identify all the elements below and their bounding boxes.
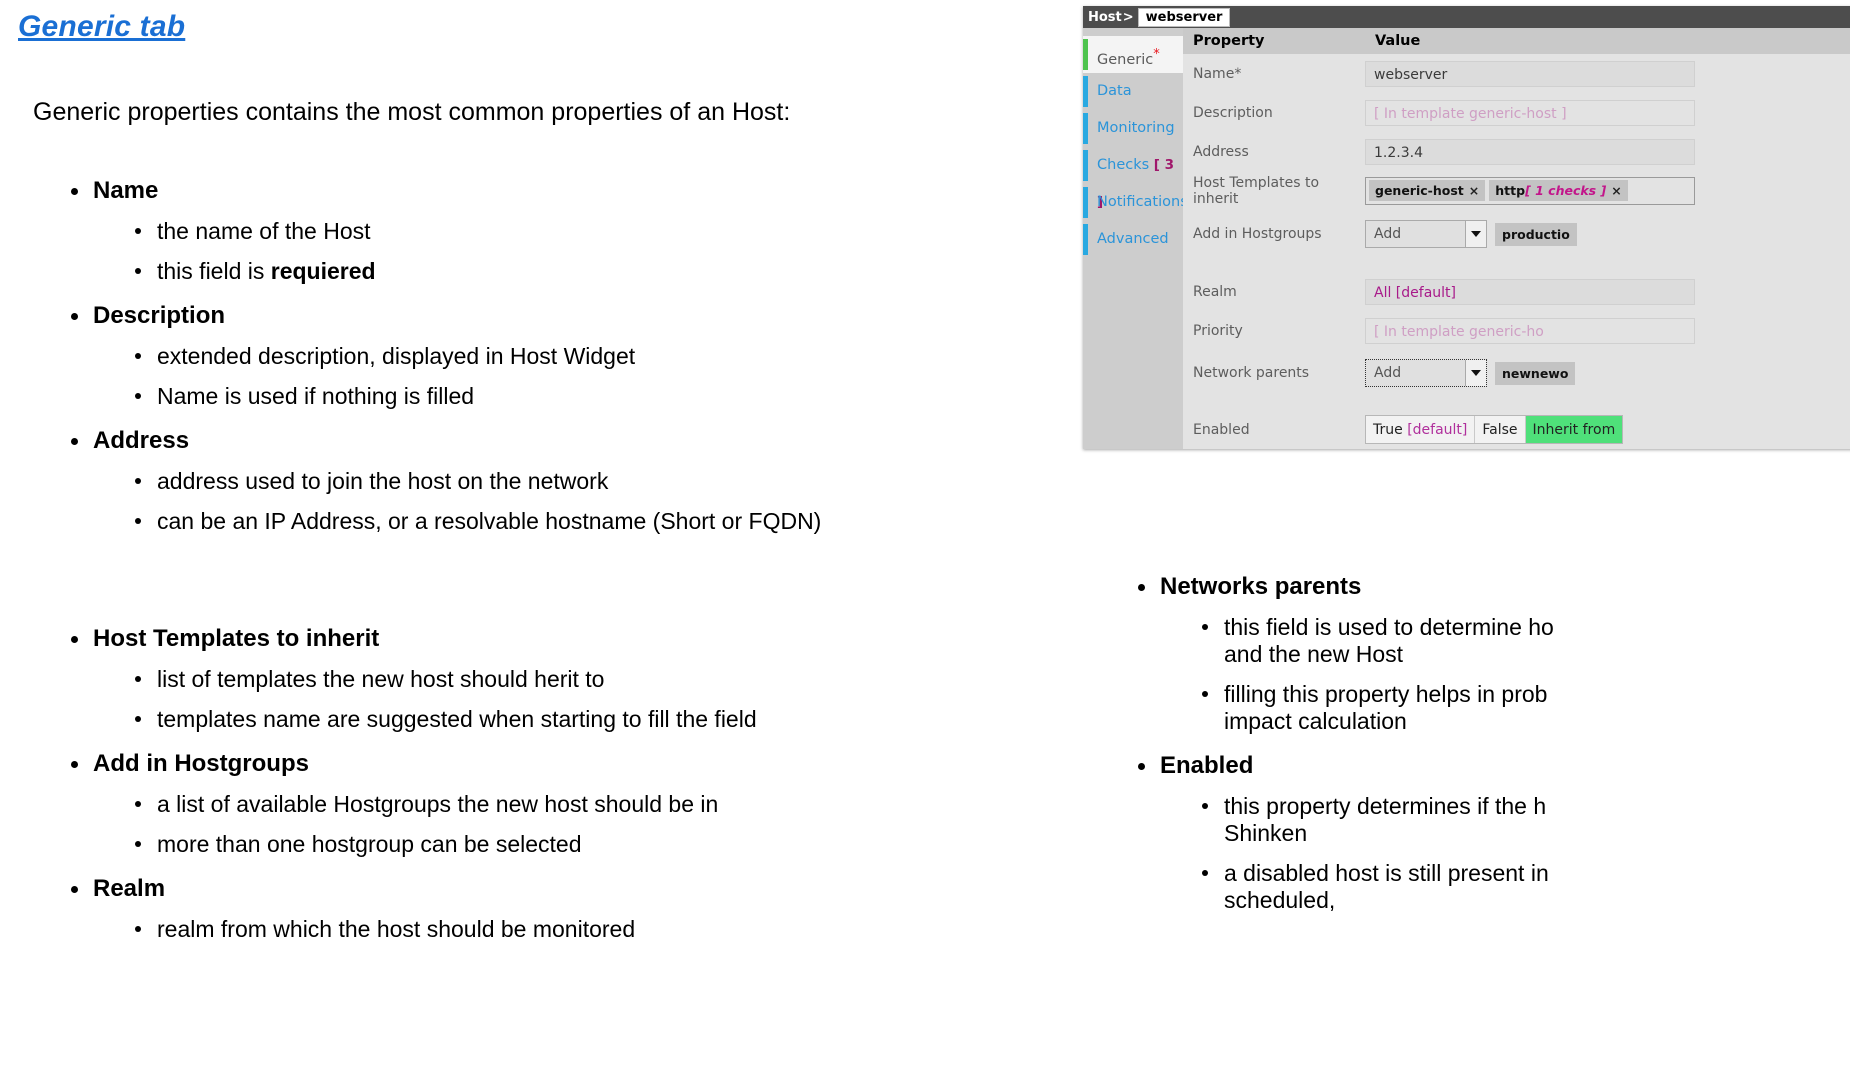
- tag-item[interactable]: generic-host×: [1369, 180, 1485, 201]
- column-header-property: Property: [1183, 33, 1365, 49]
- list-item: Add in Hostgroups: [55, 750, 1055, 778]
- field-label-address: Address: [1183, 144, 1355, 160]
- tab-label: Checks: [1097, 157, 1149, 173]
- select-value: Add: [1366, 226, 1465, 242]
- enabled-inherit-button[interactable]: Inherit from: [1526, 416, 1623, 443]
- tab-data[interactable]: Data: [1083, 73, 1183, 110]
- address-input[interactable]: 1.2.3.4: [1365, 139, 1695, 165]
- tag-remove-icon[interactable]: ×: [1469, 183, 1479, 198]
- list-item: templates name are suggested when starti…: [117, 706, 1055, 733]
- enabled-button-group: True [default] False Inherit from: [1365, 415, 1623, 444]
- list-item: Address: [55, 427, 1055, 455]
- button-default-marker: [default]: [1407, 422, 1467, 438]
- tag-label: generic-host: [1375, 183, 1464, 198]
- field-label-add-hostgroups: Add in Hostgroups: [1183, 226, 1355, 242]
- tab-checks[interactable]: Checks [ 3 ]: [1083, 147, 1183, 184]
- left-bullet-list-upper: Name the name of the Host this field is …: [55, 160, 1055, 535]
- field-label-name: Name*: [1183, 66, 1355, 82]
- field-label-network-parents: Network parents: [1183, 365, 1355, 381]
- tag-note: [ 1 checks ]: [1525, 183, 1606, 198]
- realm-link[interactable]: All [default]: [1374, 285, 1456, 301]
- list-item: Name is used if nothing is filled: [117, 383, 1055, 410]
- tag-remove-icon[interactable]: ×: [1611, 183, 1621, 198]
- table-row: Add in Hostgroups Add productio: [1183, 210, 1850, 258]
- required-marker-icon: *: [1234, 66, 1241, 82]
- list-item: filling this property helps in probimpac…: [1184, 681, 1850, 735]
- right-bullet-list: Networks parents this field is used to d…: [1122, 556, 1850, 914]
- tag-label: http: [1495, 183, 1525, 198]
- list-item: Host Templates to inherit: [55, 625, 1055, 653]
- tab-sidebar: Generic* Data Monitoring Checks [ 3 ] No…: [1083, 28, 1183, 449]
- list-item: list of templates the new host should he…: [117, 666, 1055, 693]
- field-label-description: Description: [1183, 105, 1355, 121]
- list-item: can be an IP Address, or a resolvable ho…: [117, 508, 1055, 535]
- table-row: Realm All [default]: [1183, 272, 1850, 311]
- tab-stripe-icon: [1083, 187, 1088, 218]
- hostgroups-select[interactable]: Add: [1365, 220, 1487, 248]
- chevron-down-icon[interactable]: [1465, 221, 1486, 247]
- tag-item[interactable]: http[ 1 checks ]×: [1489, 180, 1627, 201]
- tab-advanced[interactable]: Advanced: [1083, 221, 1183, 258]
- table-row: Enabled True [default] False Inherit fro…: [1183, 410, 1850, 449]
- page-title[interactable]: Generic tab: [18, 10, 185, 44]
- label-text: Name: [1193, 66, 1234, 82]
- hostgroup-pill[interactable]: productio: [1495, 223, 1577, 246]
- tab-label: Advanced: [1097, 231, 1169, 247]
- tab-label: Generic: [1097, 52, 1153, 68]
- left-bullet-list-lower: Host Templates to inherit list of templa…: [55, 608, 1055, 943]
- tab-stripe-icon: [1083, 76, 1088, 107]
- tab-stripe-icon: [1083, 150, 1088, 181]
- list-item: the name of the Host: [117, 218, 1055, 245]
- enabled-false-button[interactable]: False: [1475, 416, 1525, 443]
- priority-input[interactable]: [ In template generic-ho: [1365, 318, 1695, 344]
- tab-label: Monitoring: [1097, 120, 1175, 136]
- list-item: Name: [55, 177, 1055, 205]
- field-label-host-templates: Host Templates to inherit: [1183, 175, 1355, 207]
- list-item: Enabled: [1122, 752, 1850, 780]
- breadcrumb-current: webserver: [1138, 8, 1231, 27]
- list-item: this field is requiered: [117, 258, 1055, 285]
- host-templates-tag-input[interactable]: generic-host× http[ 1 checks ]×: [1365, 177, 1695, 205]
- chevron-down-icon[interactable]: [1465, 360, 1486, 386]
- button-label: True: [1373, 422, 1403, 438]
- table-row: Address 1.2.3.4: [1183, 132, 1850, 171]
- column-header-value: Value: [1365, 33, 1420, 49]
- tab-stripe-icon: [1083, 113, 1088, 144]
- list-item: Networks parents: [1122, 573, 1850, 601]
- table-row: Description [ In template generic-host ]: [1183, 93, 1850, 132]
- required-marker-icon: *: [1153, 47, 1160, 62]
- table-row: Name* webserver: [1183, 54, 1850, 93]
- table-header-row: Property Value: [1183, 28, 1850, 54]
- tab-generic[interactable]: Generic*: [1083, 36, 1183, 73]
- intro-paragraph: Generic properties contains the most com…: [33, 98, 790, 127]
- table-row: Host Templates to inherit generic-host× …: [1183, 171, 1850, 210]
- property-form: Property Value Name* webserver Descripti…: [1183, 28, 1850, 449]
- list-item: this property determines if the hShinken: [1184, 793, 1850, 847]
- field-label-realm: Realm: [1183, 284, 1355, 300]
- list-item: extended description, displayed in Host …: [117, 343, 1055, 370]
- list-item: more than one hostgroup can be selected: [117, 831, 1055, 858]
- tab-notifications[interactable]: Notifications: [1083, 184, 1183, 221]
- name-input[interactable]: webserver: [1365, 61, 1695, 87]
- tab-label: Notifications: [1097, 194, 1188, 210]
- enabled-true-button[interactable]: True [default]: [1366, 416, 1475, 443]
- list-item: a list of available Hostgroups the new h…: [117, 791, 1055, 818]
- list-item: Realm: [55, 875, 1055, 903]
- tab-stripe-icon: [1083, 39, 1088, 70]
- window-breadcrumb-bar: Host > webserver: [1083, 6, 1850, 28]
- list-item: address used to join the host on the net…: [117, 468, 1055, 495]
- host-config-window: Host > webserver Generic* Data Monitorin…: [1083, 6, 1850, 449]
- list-item: realm from which the host should be moni…: [117, 916, 1055, 943]
- realm-value[interactable]: All [default]: [1365, 279, 1695, 305]
- breadcrumb-root[interactable]: Host: [1088, 10, 1122, 25]
- table-row: Priority [ In template generic-ho: [1183, 311, 1850, 350]
- tab-monitoring[interactable]: Monitoring: [1083, 110, 1183, 147]
- table-row: Network parents Add newnewo: [1183, 350, 1850, 396]
- network-parent-pill[interactable]: newnewo: [1495, 362, 1575, 385]
- select-value: Add: [1366, 365, 1465, 381]
- description-input[interactable]: [ In template generic-host ]: [1365, 100, 1695, 126]
- list-item: Description: [55, 302, 1055, 330]
- breadcrumb-separator-icon: >: [1123, 10, 1134, 25]
- tab-stripe-icon: [1083, 224, 1088, 255]
- list-item: this field is used to determine hoand th…: [1184, 614, 1850, 668]
- tab-label: Data: [1097, 83, 1132, 99]
- network-parents-select[interactable]: Add: [1365, 359, 1487, 387]
- list-item: a disabled host is still present insched…: [1184, 860, 1850, 914]
- field-label-priority: Priority: [1183, 323, 1355, 339]
- field-label-enabled: Enabled: [1183, 422, 1355, 438]
